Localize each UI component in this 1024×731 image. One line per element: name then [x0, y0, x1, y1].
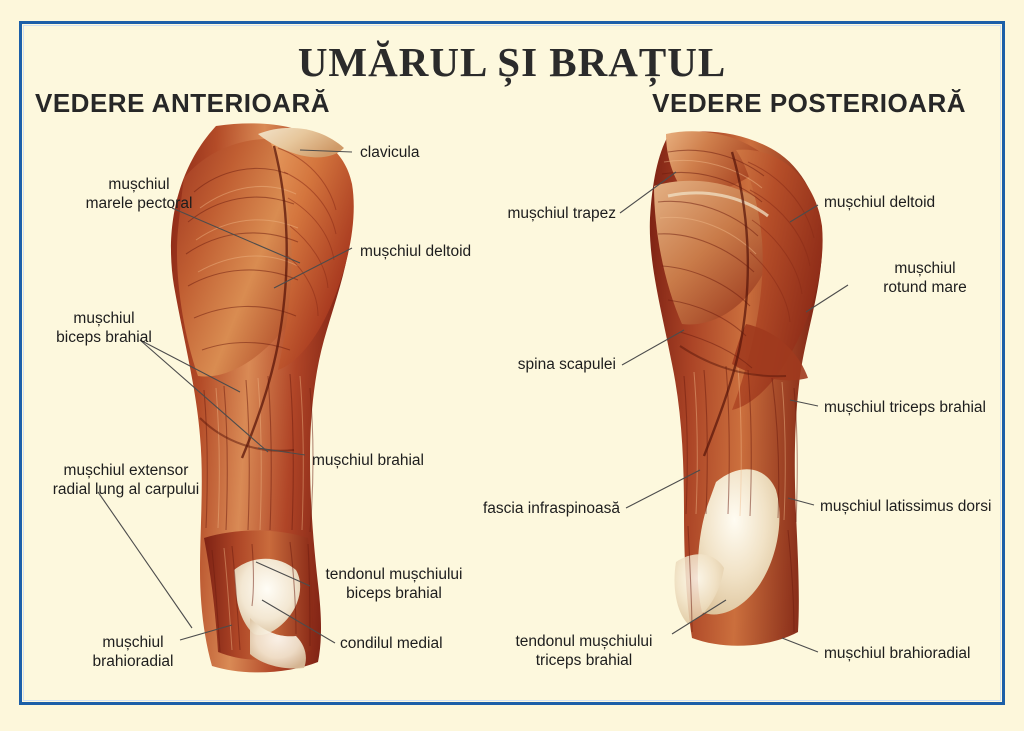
posterior-arm-illustration — [628, 126, 843, 682]
subtitle-anterior: VEDERE ANTERIOARĂ — [35, 88, 330, 119]
label-triceps-brahial: mușchiul triceps brahial — [824, 399, 986, 418]
label-marele-pectoral: mușchiul marele pectoral — [44, 176, 234, 214]
label-tendon-triceps: tendonul mușchiului triceps brahial — [500, 633, 668, 671]
subtitle-posterior: VEDERE POSTERIOARĂ — [652, 88, 966, 119]
poster: UMĂRUL ȘI BRAȚUL VEDERE ANTERIOARĂ VEDER… — [0, 0, 1024, 731]
label-brahioradial-ant: mușchiul brahioradial — [62, 634, 204, 672]
page-title: UMĂRUL ȘI BRAȚUL — [0, 38, 1024, 86]
label-latissimus-dorsi: mușchiul latissimus dorsi — [820, 498, 991, 517]
label-fascia-infraspinoasa: fascia infraspinoasă — [442, 500, 620, 519]
label-deltoid-anterior: mușchiul deltoid — [360, 243, 471, 262]
label-spina-scapulei: spina scapulei — [440, 356, 616, 375]
label-deltoid-posterior: mușchiul deltoid — [824, 194, 935, 213]
label-biceps-brahial: mușchiul biceps brahial — [20, 310, 188, 348]
label-condilul-medial: condilul medial — [340, 635, 443, 654]
label-trapez: mușchiul trapez — [432, 205, 616, 224]
label-tendon-biceps: tendonul mușchiului biceps brahial — [308, 566, 480, 604]
label-brahioradial-post: mușchiul brahioradial — [824, 645, 970, 664]
label-extensor-radial: mușchiul extensor radial lung al carpulu… — [26, 462, 226, 500]
label-brahial: mușchiul brahial — [312, 452, 424, 471]
label-rotund-mare: mușchiul rotund mare — [850, 260, 1000, 298]
label-clavicula: clavicula — [360, 144, 419, 163]
